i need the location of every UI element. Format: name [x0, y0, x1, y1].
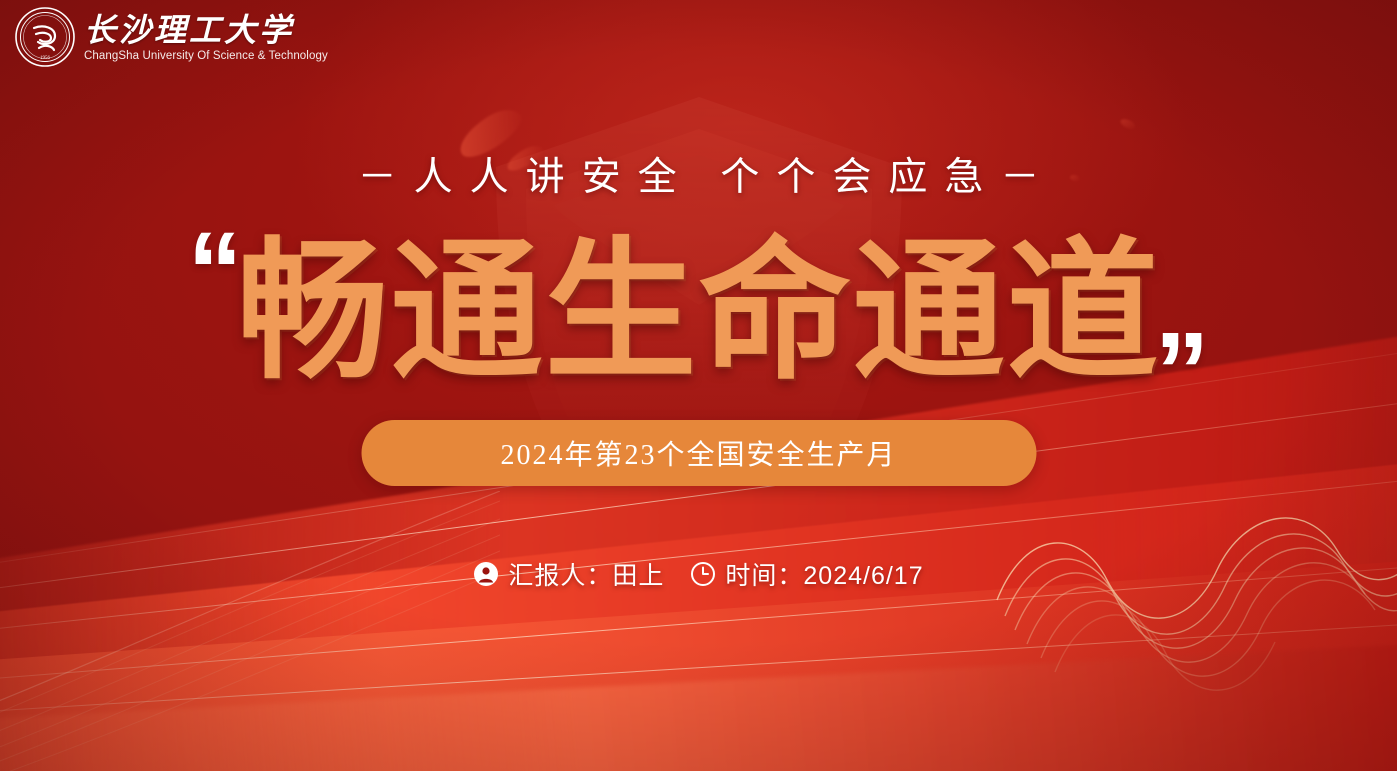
presenter-label: 汇报人：田上: [508, 556, 664, 592]
clock-icon: [690, 561, 716, 587]
slide-meta: 汇报人：田上 时间：2024/6/17: [0, 556, 1397, 592]
presentation-slide: 1956 长沙理工大学 ChangSha University Of Scien…: [0, 0, 1397, 771]
main-title-block: “ 畅通生命通道 ”: [0, 212, 1397, 412]
date-info: 时间：2024/6/17: [690, 556, 923, 592]
slide-subtitle: －人人讲安全 个个会应急－: [0, 146, 1397, 202]
slide-content: －人人讲安全 个个会应急－ “ 畅通生命通道 ” 2024年第23个全国安全生产…: [0, 0, 1397, 771]
user-circle-icon: [473, 561, 499, 587]
date-label: 时间：2024/6/17: [725, 556, 923, 592]
presenter-info: 汇报人：田上: [473, 556, 664, 592]
campaign-banner: 2024年第23个全国安全生产月: [361, 420, 1036, 486]
campaign-banner-label: 2024年第23个全国安全生产月: [500, 433, 896, 473]
page-title: 畅通生命通道: [237, 236, 1161, 388]
